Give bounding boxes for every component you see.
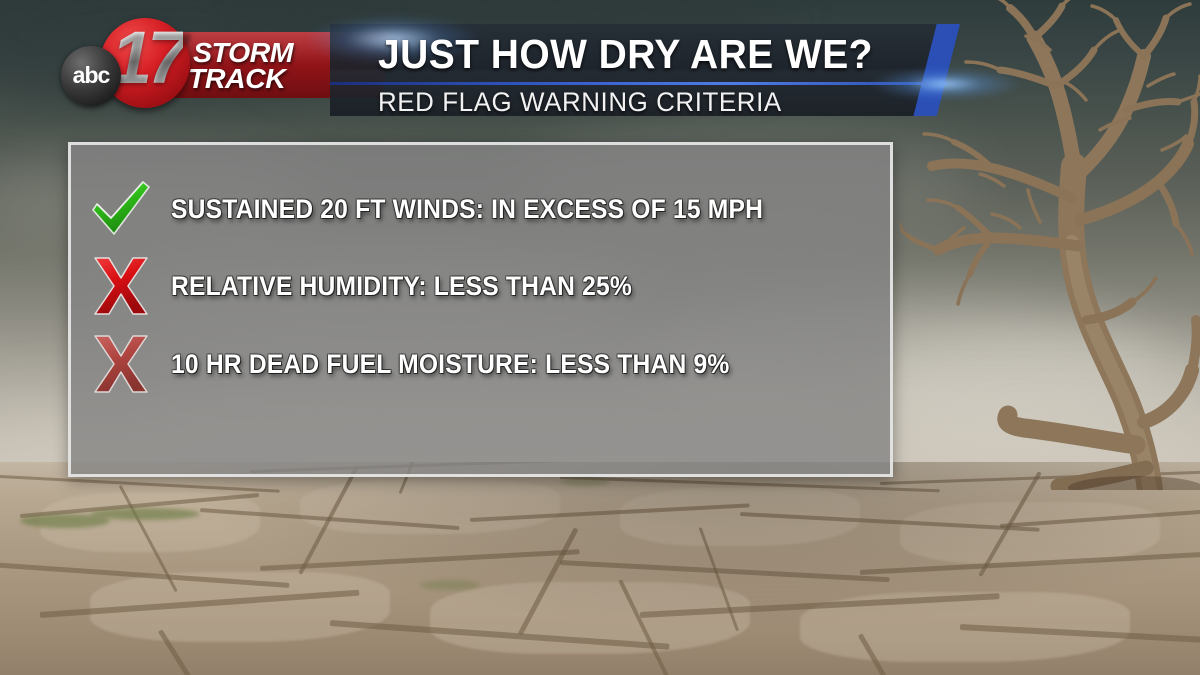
abc-network-label: abc xyxy=(61,62,121,89)
criteria-text: 10 HR DEAD FUEL MOISTURE: LESS THAN 9% xyxy=(171,349,729,380)
page-title: JUST HOW DRY ARE WE? xyxy=(378,31,873,78)
status-indicator xyxy=(71,328,171,400)
criteria-text: RELATIVE HUMIDITY: LESS THAN 25% xyxy=(171,271,632,302)
criteria-list: SUSTAINED 20 FT WINDS: IN EXCESS OF 15 M… xyxy=(71,145,890,474)
criteria-row: RELATIVE HUMIDITY: LESS THAN 25% xyxy=(71,250,890,322)
headline-bar: JUST HOW DRY ARE WE? RED FLAG WARNING CR… xyxy=(330,24,960,116)
red-x-icon xyxy=(87,255,155,317)
status-indicator xyxy=(71,173,171,245)
red-x-icon xyxy=(87,333,155,395)
station-logo: STORM TRACK 17 abc xyxy=(55,12,355,112)
status-indicator xyxy=(71,250,171,322)
criteria-row: SUSTAINED 20 FT WINDS: IN EXCESS OF 15 M… xyxy=(71,173,890,245)
cracked-earth-background xyxy=(0,462,1200,675)
criteria-panel: SUSTAINED 20 FT WINDS: IN EXCESS OF 15 M… xyxy=(68,142,893,477)
storm-track-line2: TRACK xyxy=(188,63,285,95)
criteria-row: 10 HR DEAD FUEL MOISTURE: LESS THAN 9% xyxy=(71,328,890,400)
headline-divider-line xyxy=(330,82,947,85)
channel-number: 17 xyxy=(111,21,183,95)
criteria-text: SUSTAINED 20 FT WINDS: IN EXCESS OF 15 M… xyxy=(171,194,763,225)
page-subtitle: RED FLAG WARNING CRITERIA xyxy=(378,87,782,118)
weather-graphic-stage: STORM TRACK 17 abc JUST HOW DRY ARE WE? … xyxy=(0,0,1200,675)
abc-network-logo: abc xyxy=(61,46,121,106)
green-check-icon xyxy=(87,178,155,240)
ground-shading xyxy=(0,462,1200,675)
